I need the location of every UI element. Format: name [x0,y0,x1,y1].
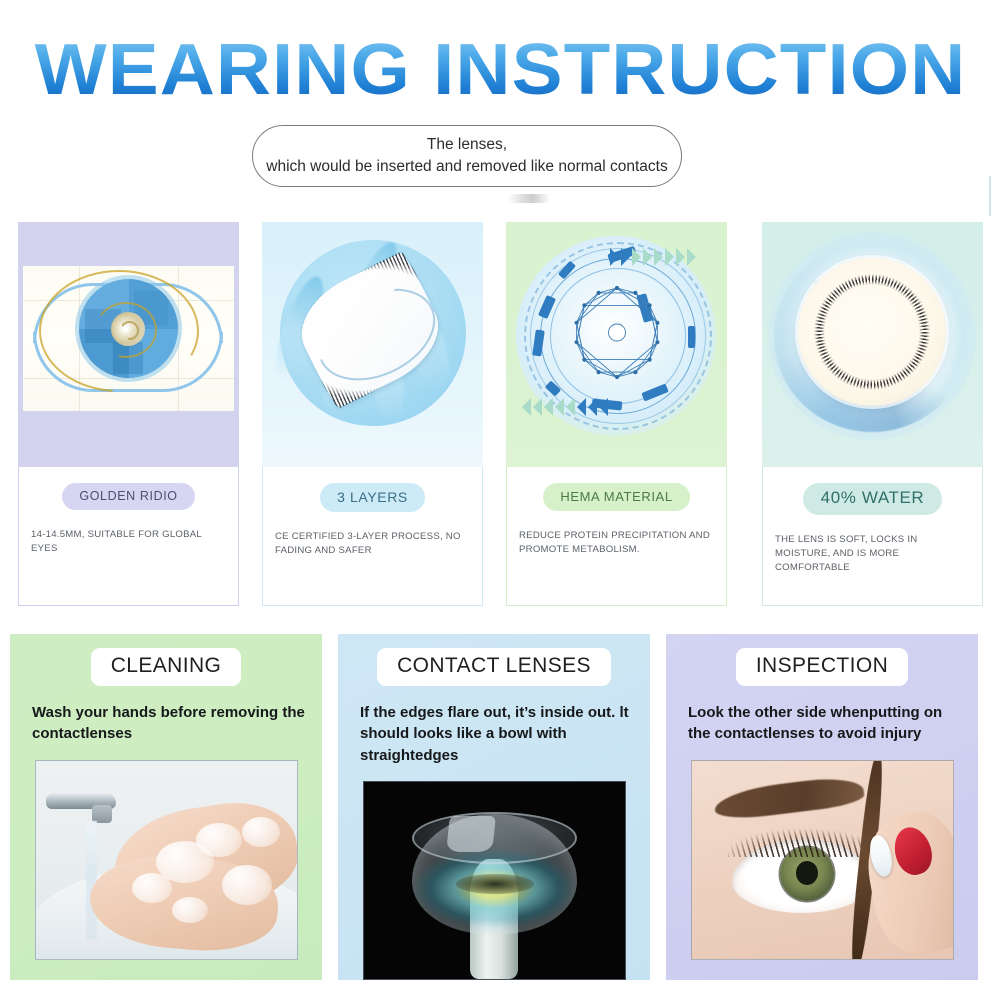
limbal-ring [796,256,948,408]
eye-illustration-band [23,266,234,411]
feature-card-footer: 3 LAYERS CE CERTIFIED 3-LAYER PROCESS, N… [262,467,483,606]
eyelashes [728,817,880,857]
subtitle-box: The lenses, which would be inserted and … [252,125,682,187]
feature-caption: CE CERTIFIED 3-LAYER PROCESS, NO FADING … [273,530,472,558]
feature-card-golden-ratio: GOLDEN RIDIO 14-14.5MM, SUITABLE FOR GLO… [18,222,239,606]
subtitle-line-2: which would be inserted and removed like… [266,156,668,178]
chevron-arrows-bottom [522,398,608,416]
scan-artifact-edge-line [989,176,991,216]
feature-card-footer: 40% WATER THE LENS IS SOFT, LOCKS IN MOI… [762,467,983,606]
feature-card-footer: HEMA MATERIAL REDUCE PROTEIN PRECIPITATI… [506,467,727,606]
feature-caption: 14-14.5MM, SUITABLE FOR GLOBAL EYES [29,528,228,556]
step-text: Look the other side whenputting on the c… [678,702,966,745]
lens-bowl-highlight [446,816,496,852]
golden-ratio-eye-icon [18,222,239,467]
lens-on-applicator-photo [363,781,626,980]
feature-badge: 3 LAYERS [320,483,425,512]
step-label: CONTACT LENSES [377,648,611,686]
page-title-wrapper: WEARING INSTRUCTION [0,34,1000,107]
subtitle-line-1: The lenses, [427,134,507,156]
feature-badge: GOLDEN RIDIO [62,483,194,510]
scan-artifact-smudge [508,194,550,203]
step-text: Wash your hands before removing the cont… [22,702,310,745]
feature-card-40-percent-water: 40% WATER THE LENS IS SOFT, LOCKS IN MOI… [762,222,983,606]
step-panel-inspection: INSPECTION Look the other side whenputti… [666,634,978,980]
hema-tech-circle-icon [506,222,727,467]
molecular-star-pattern [564,282,670,388]
faucet-icon [46,793,116,809]
step-label: CLEANING [91,648,242,686]
lens-cross-section-icon [262,222,483,467]
eyebrow [712,774,865,822]
chevron-arrows-top [610,248,696,266]
eye-insertion-photo [691,760,954,960]
step-text: If the edges flare out, it’s inside out.… [350,702,638,766]
lens-bowl-shadow [456,874,534,894]
infographic-page: WEARING INSTRUCTION The lenses, which wo… [0,0,1000,1000]
hands-washing-photo [35,760,298,960]
feature-card-row: GOLDEN RIDIO 14-14.5MM, SUITABLE FOR GLO… [18,222,983,606]
step-panel-contact-lenses: CONTACT LENSES If the edges flare out, i… [338,634,650,980]
nautilus-shell-icon [111,312,145,346]
step-label: INSPECTION [736,648,908,686]
water-splash-lens-icon [762,222,983,467]
feature-card-hema-material: HEMA MATERIAL REDUCE PROTEIN PRECIPITATI… [506,222,727,606]
eye-pupil [796,861,818,885]
feature-badge: HEMA MATERIAL [543,483,689,511]
feature-caption: THE LENS IS SOFT, LOCKS IN MOISTURE, AND… [773,533,972,576]
instruction-step-row: CLEANING Wash your hands before removing… [10,634,990,980]
step-panel-cleaning: CLEANING Wash your hands before removing… [10,634,322,980]
feature-card-footer: GOLDEN RIDIO 14-14.5MM, SUITABLE FOR GLO… [18,467,239,606]
page-title: WEARING INSTRUCTION [34,34,966,107]
water-stream [86,821,97,939]
feature-card-3-layers: 3 LAYERS CE CERTIFIED 3-LAYER PROCESS, N… [262,222,483,606]
feature-badge: 40% WATER [803,483,943,515]
feature-caption: REDUCE PROTEIN PRECIPITATION AND PROMOTE… [517,529,716,557]
